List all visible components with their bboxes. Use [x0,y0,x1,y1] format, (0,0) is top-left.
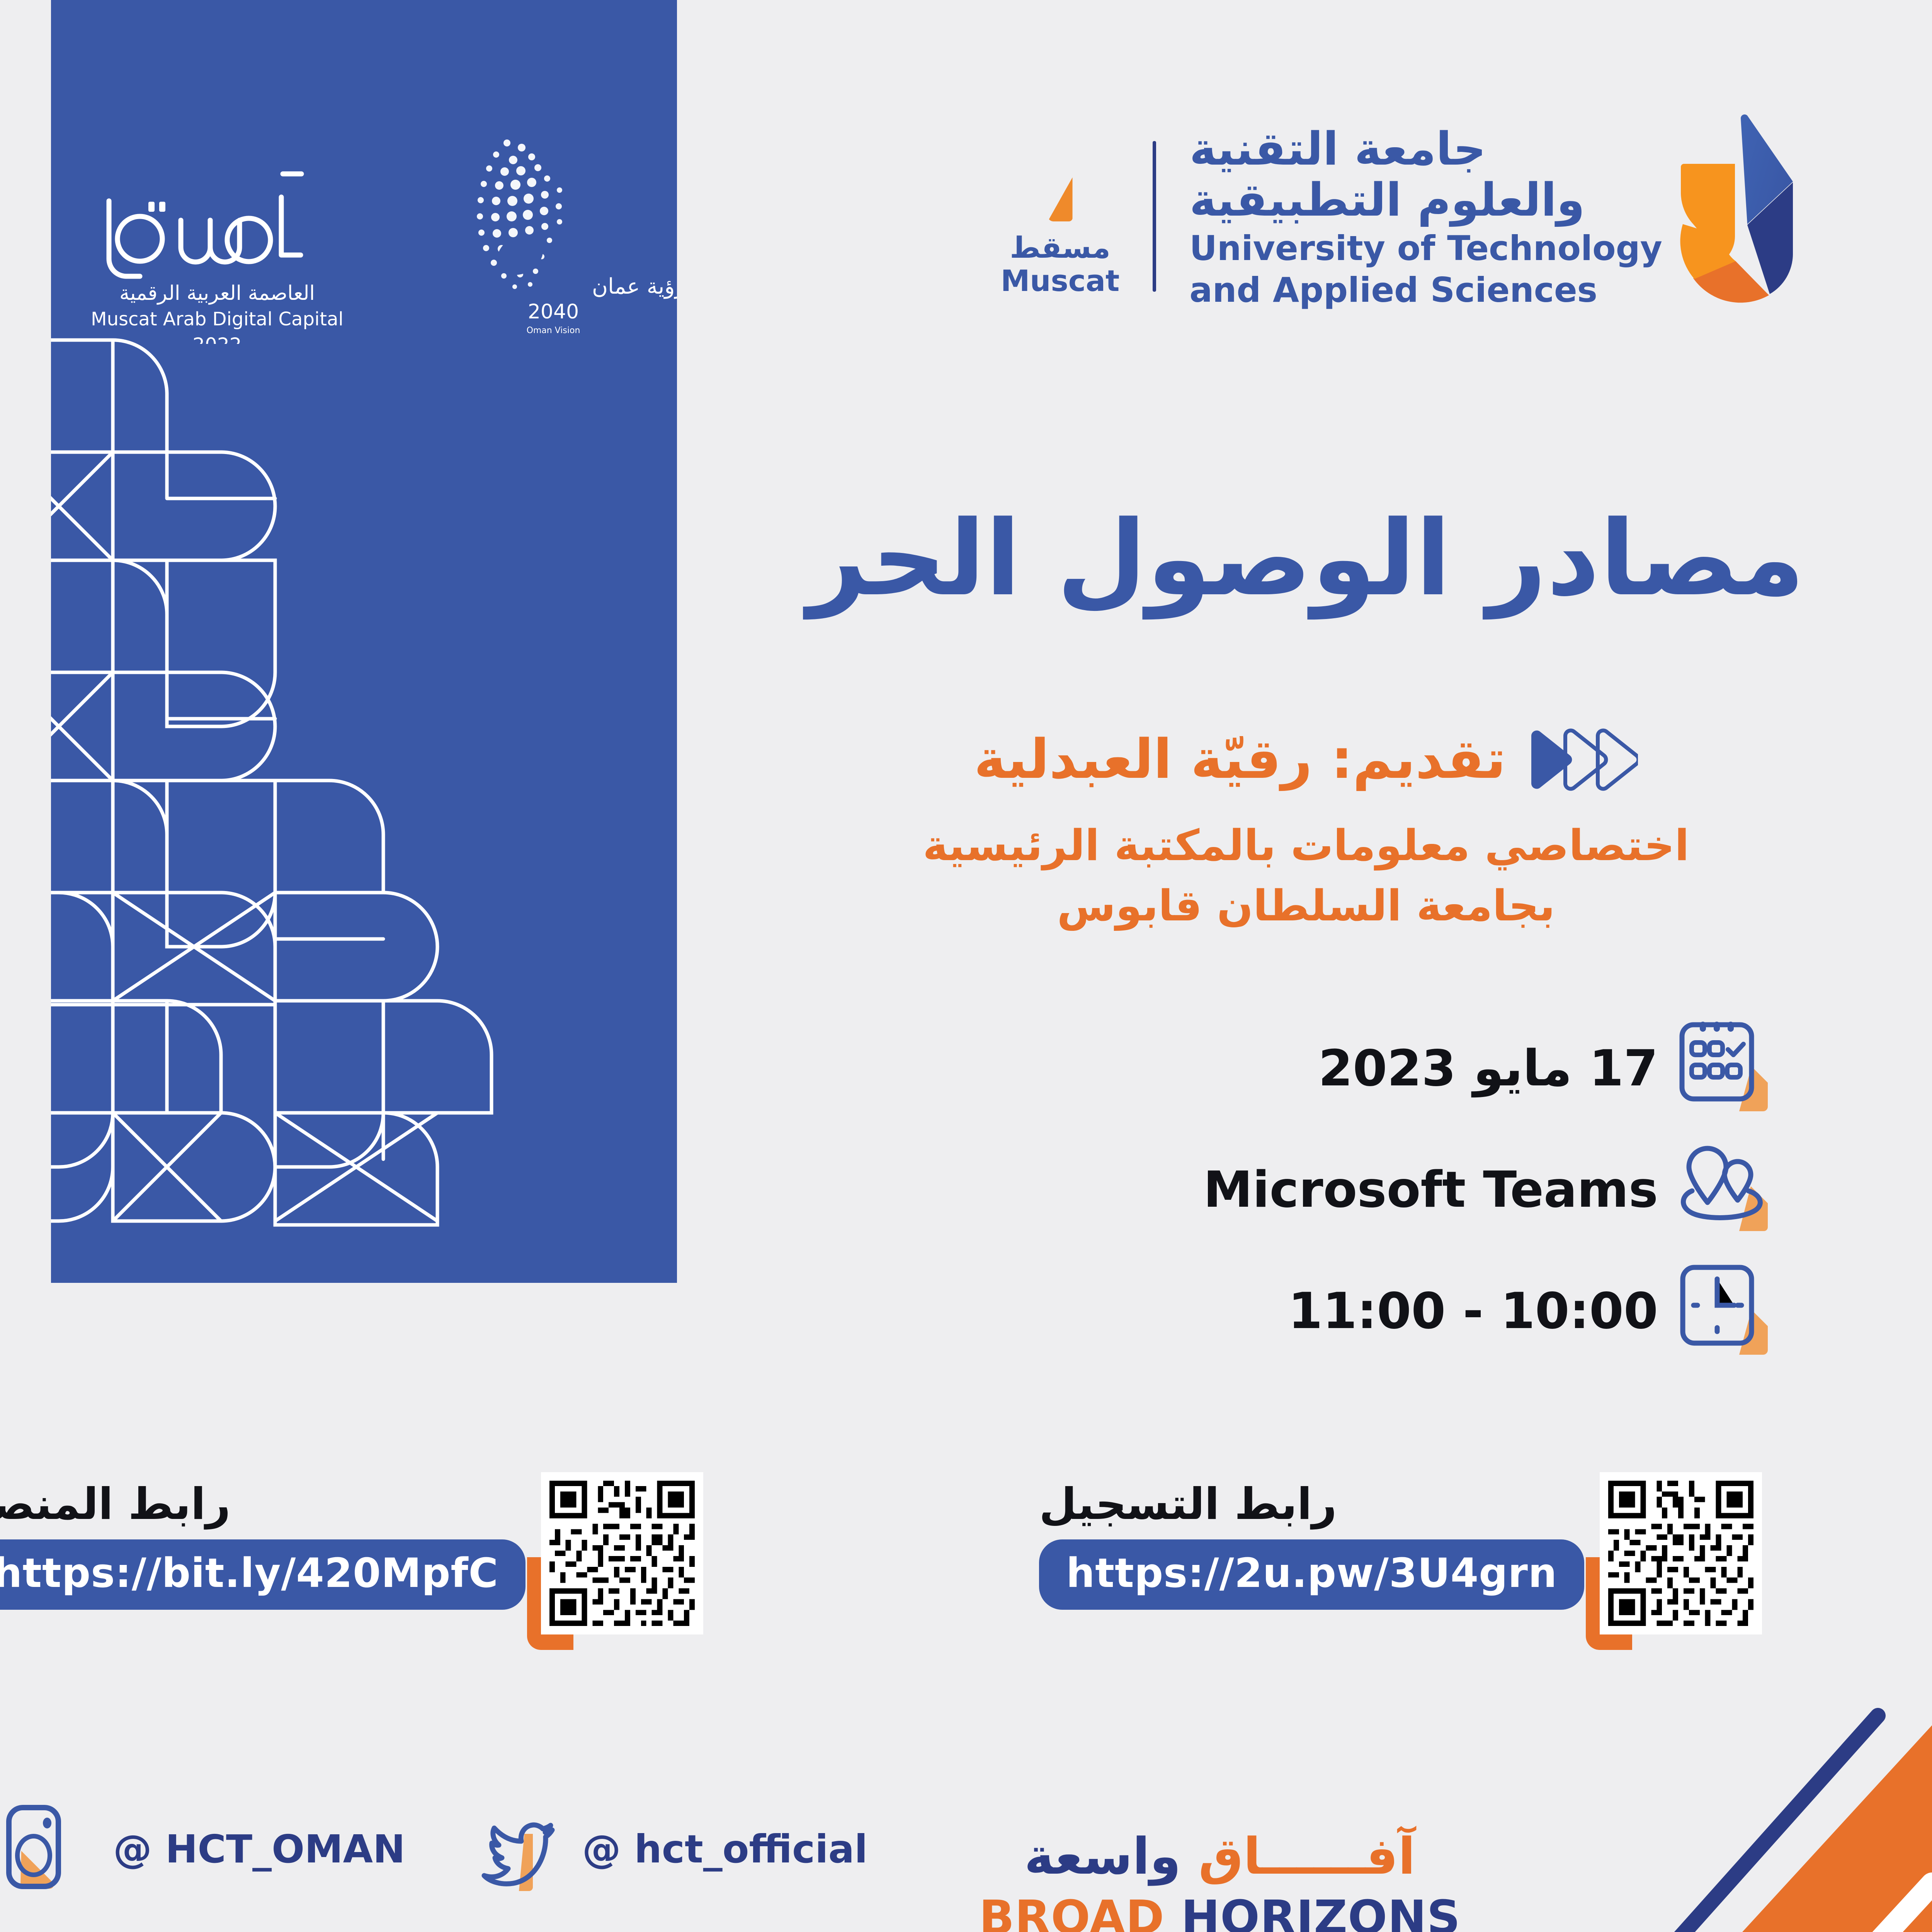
left-blue-panel: العاصمة العربية الرقمية Muscat Arab Digi… [51,0,677,1283]
university-name-en-line1: University of Technology [1189,230,1662,268]
university-name-ar-line2: والعلوم التطبيقية [1189,174,1585,225]
corner-blue-stripe [1586,1716,1878,1932]
event-date-value: 17 مايو 2023 [1318,1040,1658,1097]
university-name-ar-line1: جامعة التقنية [1189,123,1486,174]
social-item-instagram[interactable]: @ HCT_OMAN [6,1801,405,1897]
event-platform-value: Microsoft Teams [1203,1161,1658,1219]
registration-qr-code[interactable] [1600,1472,1762,1634]
registration-url[interactable]: https://2u.pw/3U4grn [1039,1539,1584,1610]
presenter-role-line2: بجامعة السلطان قابوس [784,876,1828,936]
digital-capital-subtitle-ar: العاصمة العربية الرقمية [119,282,315,305]
oman-vision-label-ar: رؤية عمان [592,274,677,299]
detail-row-time: 11:00 - 10:00 [1288,1263,1772,1359]
presenter-role: اختصاصي معلومات بالمكتبة الرئيسية بجامعة… [784,815,1828,936]
utas-logo-mark [1678,108,1828,325]
presenter-name: تقديم: رقيّة العبدلية [974,728,1506,791]
poster-canvas: العاصمة العربية الرقمية Muscat Arab Digi… [0,0,1932,1932]
presenter-row: تقديم: رقيّة العبدلية [784,726,1828,792]
oman-vision-year: 2040 [528,300,579,323]
corner-white-stripe [1777,1884,1932,1932]
university-name-block: جامعة التقنية والعلوم التطبيقية Universi… [1189,123,1662,309]
slogan-block: آفــــــاق واسعة BROAD HORIZONS [979,1828,1461,1932]
registration-label: رابط التسجيل [1039,1479,1337,1529]
slogan-english-main: HORIZONS [1181,1891,1461,1932]
slogan-arabic: آفــــــاق واسعة [979,1828,1461,1886]
play-arrows-icon [1522,726,1638,792]
detail-row-platform: Microsoft Teams [1203,1141,1772,1238]
twitter-icon[interactable] [475,1801,568,1897]
slogan-english: BROAD HORIZONS [979,1891,1461,1932]
corner-orange-triangle [1631,1725,1932,1932]
instagram-icon[interactable] [6,1801,99,1897]
event-title: مصادر الوصول الحر [784,498,1828,619]
campus-name-ar: مسقط [1010,231,1110,264]
geometric-pattern [51,317,677,1283]
calendar-icon [1679,1020,1772,1117]
location-people-icon [1679,1141,1772,1238]
slogan-arabic-main: واسعة [1024,1827,1181,1886]
digital-capital-subtitle-en: Muscat Arab Digital Capital [91,308,344,330]
campus-block: مسقط Muscat [1001,135,1120,298]
presenter-role-line1: اختصاصي معلومات بالمكتبة الرئيسية [784,815,1828,876]
twitter-handle[interactable]: @ hct_official [582,1827,868,1872]
university-name-en-line2: and Applied Sciences [1189,271,1597,310]
oman-vision-label-en: Oman Vision [527,326,580,335]
platform-text-group: رابط المنصة https://bit.ly/420MpfC [0,1472,526,1610]
instagram-handle[interactable]: @ HCT_OMAN [113,1827,405,1872]
logo-divider [1153,141,1156,292]
platform-qr-code[interactable] [541,1472,703,1634]
platform-url[interactable]: https://bit.ly/420MpfC [0,1539,526,1610]
registration-qr-wrap [1600,1472,1762,1634]
digital-capital-year: 2022 [192,334,241,344]
corner-decoration-bottom-right [1430,1683,1932,1932]
platform-label: رابط المنصة [0,1479,231,1529]
event-time-value: 11:00 - 10:00 [1288,1282,1658,1340]
event-details-list: 17 مايو 2023 Microsoft Teams [844,1020,1772,1359]
campus-name-en: Muscat [1001,264,1120,298]
social-item-twitter[interactable]: @ hct_official [475,1801,868,1897]
clock-icon [1679,1263,1772,1359]
slogan-english-accent: BROAD [979,1891,1165,1932]
social-links: @ HCT_OMAN @ hct_official [6,1801,867,1897]
registration-text-group: رابط التسجيل https://2u.pw/3U4grn [1039,1472,1584,1610]
detail-row-date: 17 مايو 2023 [1318,1020,1772,1117]
oman-vision-swirl [477,139,562,289]
panel-logos-group: العاصمة العربية الرقمية Muscat Arab Digi… [51,128,677,344]
registration-link-block[interactable]: رابط التسجيل https://2u.pw/3U4grn [1039,1472,1762,1634]
slogan-arabic-accent: آفــــــاق [1199,1827,1415,1886]
platform-qr-wrap [541,1472,703,1634]
campus-marker-icon [1048,177,1073,221]
university-logo-block: جامعة التقنية والعلوم التطبيقية Universi… [1001,108,1828,325]
platform-link-block[interactable]: رابط المنصة https://bit.ly/420MpfC [0,1472,703,1634]
